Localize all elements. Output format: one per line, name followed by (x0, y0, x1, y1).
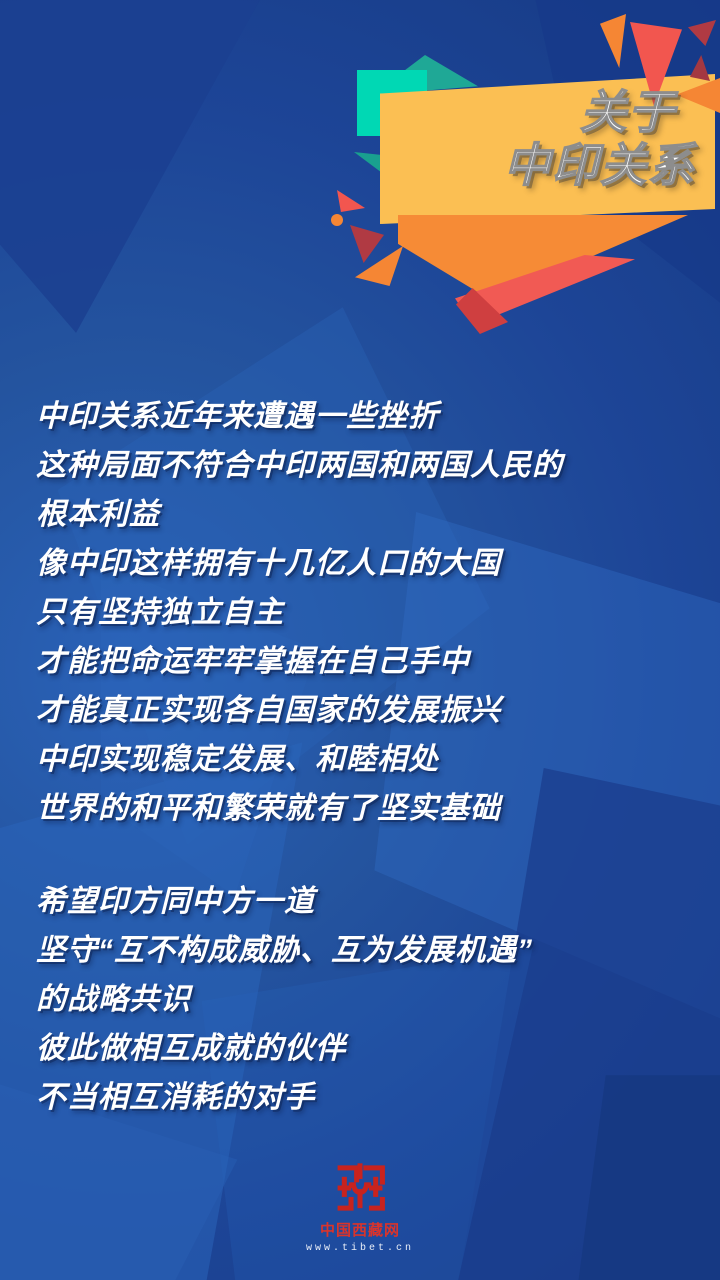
body-line: 希望印方同中方一道 (36, 877, 696, 926)
paragraph-2: 希望印方同中方一道 坚守“互不构成威胁、互为发展机遇” 的战略共识 彼此做相互成… (36, 877, 696, 1122)
site-url: www.tibet.cn (0, 1243, 720, 1254)
body-line: 才能把命运牢牢掌握在自己手中 (36, 637, 696, 686)
tibet-seal-icon (332, 1160, 388, 1216)
banner-title: 关于 中印关系 (430, 88, 700, 190)
decor-triangle-icon (688, 20, 716, 46)
site-name: 中国西藏网 (0, 1222, 720, 1240)
body-line: 世界的和平和繁荣就有了坚实基础 (36, 784, 696, 833)
poster-root: 关于 中印关系 中印关系近年来遭遇一些挫折 这种局面不符合中印两国和两国人民的 … (0, 0, 720, 1280)
decor-triangle-icon (690, 55, 710, 81)
decor-dot-icon (331, 214, 343, 226)
banner-title-line-2: 中印关系 (430, 141, 700, 190)
body-line: 不当相互消耗的对手 (36, 1073, 696, 1122)
banner-title-line-1: 关于 (430, 88, 700, 137)
body-line: 中印实现稳定发展、和睦相处 (36, 735, 696, 784)
decor-triangle-icon (350, 225, 384, 263)
body-line: 像中印这样拥有十几亿人口的大国 (36, 539, 696, 588)
body-copy: 中印关系近年来遭遇一些挫折 这种局面不符合中印两国和两国人民的 根本利益 像中印… (36, 392, 696, 1122)
body-line: 才能真正实现各自国家的发展振兴 (36, 686, 696, 735)
footer: 中国西藏网 www.tibet.cn (0, 1160, 720, 1254)
paragraph-1: 中印关系近年来遭遇一些挫折 这种局面不符合中印两国和两国人民的 根本利益 像中印… (36, 392, 696, 833)
body-line: 中印关系近年来遭遇一些挫折 (36, 392, 696, 441)
decor-triangle-icon (600, 14, 626, 68)
body-line: 只有坚持独立自主 (36, 588, 696, 637)
body-line: 坚守“互不构成威胁、互为发展机遇” (36, 926, 696, 975)
body-line: 这种局面不符合中印两国和两国人民的 (36, 441, 696, 490)
body-line: 根本利益 (36, 490, 696, 539)
body-line: 的战略共识 (36, 975, 696, 1024)
decor-triangle-icon (337, 190, 365, 212)
body-line: 彼此做相互成就的伙伴 (36, 1024, 696, 1073)
